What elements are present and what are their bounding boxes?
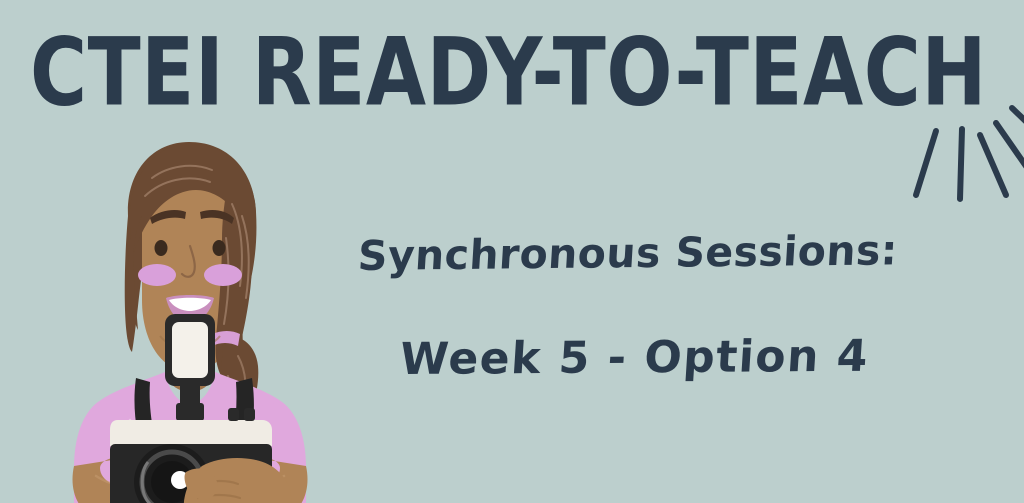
eye-left [155,240,168,256]
subtitle-line-2: Week 5 - Option 4 [398,331,870,385]
camera-knob-1 [228,408,239,421]
camera-top-plate [110,420,272,446]
camera-knob-2 [244,408,255,421]
blush-left [138,264,176,286]
blush-right [204,264,242,286]
page-title: CTEI READY-TO-TEACH [30,16,976,129]
camera-flash-window [172,322,208,378]
camera-flash-stem [180,382,200,408]
sparkle-burst [900,95,1024,225]
woman-with-camera-illustration [0,120,380,503]
poster-canvas: CTEI READY-TO-TEACH Synchronous Sessions… [0,0,1024,503]
sparkle-burst-icon [900,95,1024,225]
eye-right [213,240,226,256]
woman-with-camera-graphic [0,120,380,503]
subtitle-line-1: Synchronous Sessions: [357,226,900,280]
